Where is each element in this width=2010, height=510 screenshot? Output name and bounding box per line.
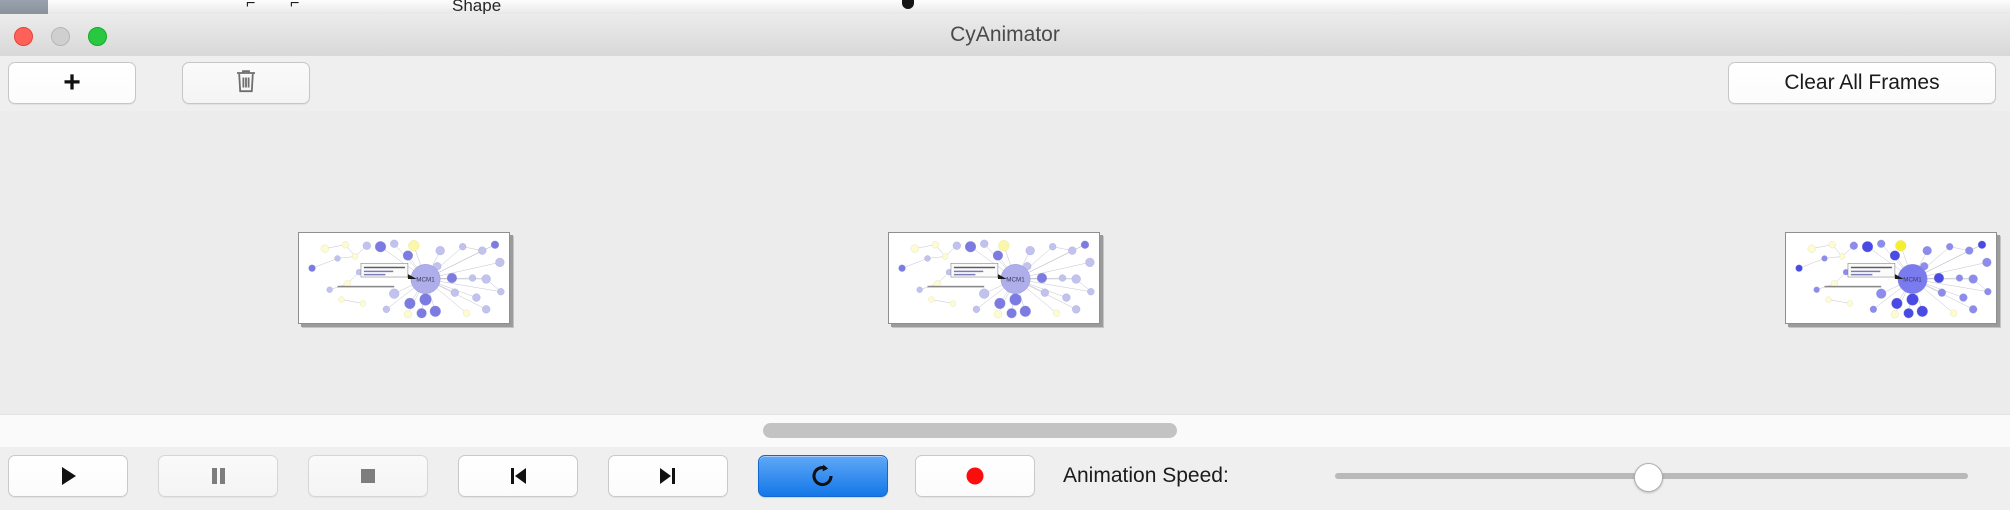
pause-icon [205,463,231,489]
play-icon [55,463,81,489]
background-window-strip: ⌐ ⌐ Shape [0,0,2010,14]
frame-thumbnail[interactable]: MCM1 [1785,232,1997,324]
window-title: CyAnimator [0,14,2010,56]
timeline-frame[interactable]: MCM1 [888,232,1100,324]
animation-speed-slider-thumb[interactable] [1634,463,1663,492]
timeline-frame[interactable]: MCM1 [298,232,510,324]
record-button[interactable] [915,455,1035,497]
add-frame-button[interactable]: + [8,62,136,104]
svg-text:MCM1: MCM1 [416,277,435,284]
scrollbar-thumb[interactable] [763,423,1177,438]
skip-to-start-icon [505,463,531,489]
trash-icon [235,68,257,99]
stop-button[interactable] [308,455,428,497]
plus-icon: + [63,68,81,98]
loop-icon [809,462,837,490]
play-button[interactable] [8,455,128,497]
skip-end-button[interactable] [608,455,728,497]
clear-all-frames-button[interactable]: Clear All Frames [1728,62,1996,104]
svg-text:MCM1: MCM1 [1903,277,1922,284]
title-bar: CyAnimator [0,14,2010,57]
skip-to-end-icon [655,463,681,489]
background-window-label: Shape [452,0,501,14]
timeline-scrollbar[interactable] [0,414,2010,448]
delete-frame-button[interactable] [182,62,310,104]
pause-button[interactable] [158,455,278,497]
stop-icon [355,463,381,489]
timeline-frame[interactable]: MCM1 [1785,232,1997,324]
loop-button[interactable] [758,455,888,497]
transport-bar: Animation Speed: [0,447,2010,510]
timeline-panel[interactable]: MCM1MCM1MCM1 2131415161718 Seconds [0,111,2010,414]
record-icon [962,463,988,489]
clear-all-frames-label: Clear All Frames [1784,71,1939,95]
skip-start-button[interactable] [458,455,578,497]
cyanimator-window: ⌐ ⌐ Shape CyAnimator + [0,0,2010,510]
frame-thumbnail[interactable]: MCM1 [298,232,510,324]
svg-text:MCM1: MCM1 [1006,277,1025,284]
animation-speed-label: Animation Speed: [1063,455,1229,497]
frame-thumbnail[interactable]: MCM1 [888,232,1100,324]
toolbar: + Clear All Frames [0,56,2010,112]
